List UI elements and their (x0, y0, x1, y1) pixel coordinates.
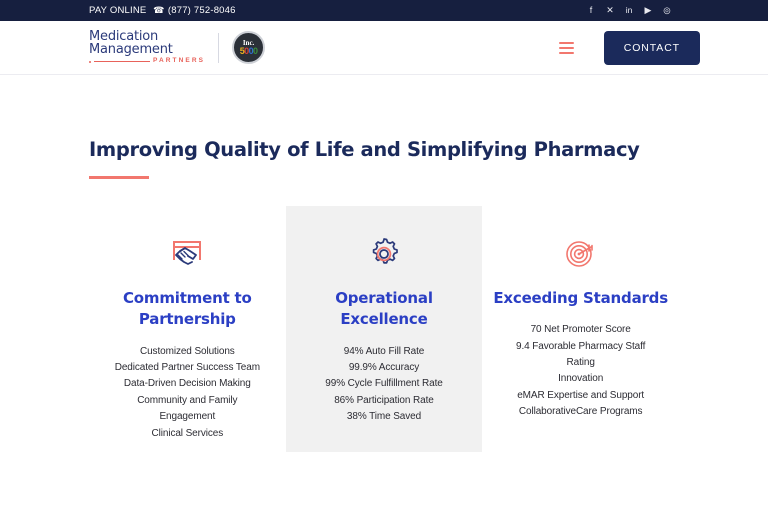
feature-columns: Commitment to Partnership Customized Sol… (89, 206, 679, 462)
list-item: 94% Auto Fill Rate (292, 344, 477, 360)
list-item: Dedicated Partner Success Team (95, 360, 280, 376)
feature-list: 70 Net Promoter Score 9.4 Favorable Phar… (488, 322, 673, 420)
logo-rule-bar (94, 61, 150, 62)
feature-card-exceeding-standards: Exceeding Standards 70 Net Promoter Scor… (482, 206, 679, 441)
list-item: Customized Solutions (95, 344, 280, 360)
pay-online-link[interactable]: PAY ONLINE (89, 5, 146, 16)
topbar-left-group: PAY ONLINE ☎ (877) 752-8046 (89, 5, 236, 16)
header-actions: CONTACT (559, 31, 700, 65)
list-item: Data-Driven Decision Making (95, 376, 280, 392)
feature-title: Exceeding Standards (488, 288, 673, 309)
list-item: 99% Cycle Fulfillment Rate (292, 376, 477, 392)
logo-partners-text: PARTNERS (153, 58, 205, 65)
logo-rule: PARTNERS (89, 58, 205, 65)
phone-link[interactable]: ☎ (877) 752-8046 (153, 5, 235, 16)
hamburger-menu-icon[interactable] (559, 42, 574, 54)
logo-line-1: Medication (89, 30, 205, 43)
top-utility-bar: PAY ONLINE ☎ (877) 752-8046 f ✕ in ▶ ◎ (0, 0, 768, 21)
contact-button[interactable]: CONTACT (604, 31, 700, 65)
target-icon (488, 232, 673, 276)
youtube-icon[interactable]: ▶ (643, 5, 653, 16)
handshake-icon (95, 232, 280, 276)
feature-title: Operational Excellence (292, 288, 477, 331)
title-accent-rule (89, 176, 149, 179)
list-item: CollaborativeCare Programs (488, 404, 673, 420)
phone-icon: ☎ (153, 5, 164, 16)
inc-5000-badge: Inc. 5000 (232, 31, 265, 64)
facebook-icon[interactable]: f (586, 5, 596, 16)
feature-card-operational-excellence: Operational Excellence 94% Auto Fill Rat… (286, 206, 483, 452)
list-item: 99.9% Accuracy (292, 360, 477, 376)
list-item: eMAR Expertise and Support (488, 388, 673, 404)
logo-rule-dot (89, 61, 91, 63)
logo[interactable]: Medication Management PARTNERS Inc. 5000 (89, 30, 265, 65)
list-item: 70 Net Promoter Score (488, 322, 673, 338)
phone-number: (877) 752-8046 (168, 5, 236, 16)
main-content: Improving Quality of Life and Simplifyin… (0, 138, 768, 462)
feature-list: Customized Solutions Dedicated Partner S… (95, 344, 280, 442)
instagram-icon[interactable]: ◎ (662, 5, 672, 16)
list-item: 38% Time Saved (292, 409, 477, 425)
hamburger-line-2 (559, 47, 574, 49)
hamburger-line-1 (559, 42, 574, 44)
social-links: f ✕ in ▶ ◎ (586, 5, 672, 16)
site-header: Medication Management PARTNERS Inc. 5000… (0, 21, 768, 75)
feature-title: Commitment to Partnership (95, 288, 280, 331)
hamburger-line-3 (559, 52, 574, 54)
list-item: Innovation (488, 371, 673, 387)
page-title: Improving Quality of Life and Simplifyin… (89, 138, 679, 161)
feature-card-commitment-to-partnership: Commitment to Partnership Customized Sol… (89, 206, 286, 462)
list-item: Clinical Services (95, 426, 280, 442)
list-item: Engagement (95, 409, 280, 425)
feature-list: 94% Auto Fill Rate 99.9% Accuracy 99% Cy… (292, 344, 477, 426)
linkedin-icon[interactable]: in (624, 5, 634, 16)
list-item: 86% Participation Rate (292, 393, 477, 409)
list-item: Community and Family (95, 393, 280, 409)
list-item: Rating (488, 355, 673, 371)
gear-icon (292, 232, 477, 276)
inc-digit-4: 0 (253, 46, 257, 56)
list-item: 9.4 Favorable Pharmacy Staff (488, 339, 673, 355)
logo-divider (218, 33, 219, 63)
logo-line-2: Management (89, 43, 205, 56)
inc-badge-number: 5000 (240, 47, 258, 56)
x-twitter-icon[interactable]: ✕ (605, 5, 615, 16)
logo-wordmark: Medication Management PARTNERS (89, 30, 205, 65)
